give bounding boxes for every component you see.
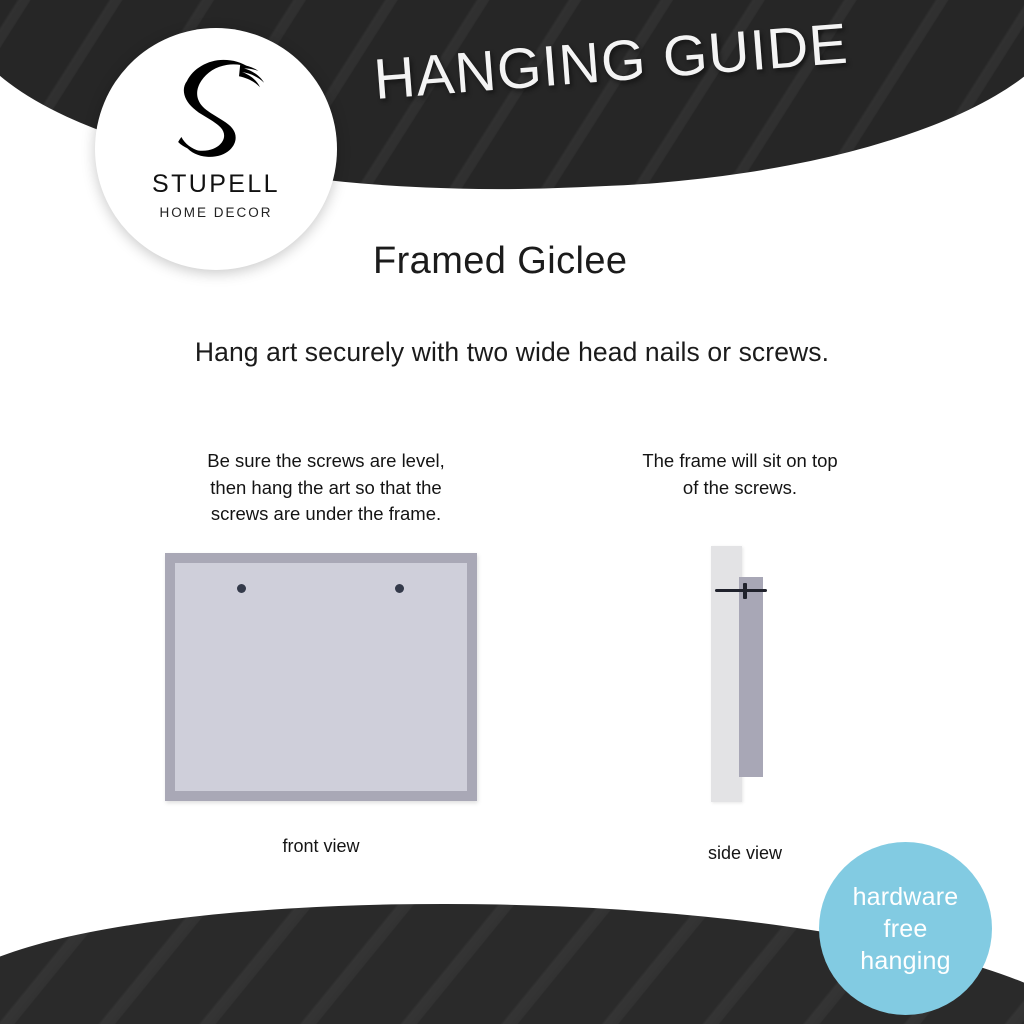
side-view-wall <box>711 546 742 802</box>
logo-brand-subtitle: HOME DECOR <box>159 206 272 220</box>
badge-line-3: hanging <box>860 945 950 977</box>
side-view-caption: The frame will sit on top of the screws. <box>590 448 890 501</box>
front-view-artwork-area <box>175 563 467 791</box>
logo-brand-name: STUPELL <box>152 172 280 197</box>
front-view-label: front view <box>165 836 477 857</box>
screw-shaft-icon <box>715 589 767 592</box>
brand-logo-badge: STUPELL HOME DECOR <box>95 28 337 270</box>
front-view-caption: Be sure the screws are level, then hang … <box>160 448 492 528</box>
screw-dot-right-icon <box>395 584 404 593</box>
badge-line-1: hardware <box>853 881 959 913</box>
swirl-s-icon <box>157 52 275 170</box>
front-view-diagram <box>165 553 477 801</box>
hardware-free-hanging-badge: hardware free hanging <box>819 842 992 1015</box>
side-view-frame <box>739 577 763 777</box>
badge-line-2: free <box>884 913 928 945</box>
side-view-diagram <box>690 540 800 810</box>
screw-dot-left-icon <box>237 584 246 593</box>
side-view-label: side view <box>660 843 830 864</box>
product-type-label: Framed Giclee <box>373 240 627 283</box>
hanging-guide-page: HANGING GUIDE STUPELL HOME DECOR Framed … <box>0 0 1024 1024</box>
screw-head-icon <box>743 583 747 599</box>
lead-instruction: Hang art securely with two wide head nai… <box>0 337 1024 368</box>
